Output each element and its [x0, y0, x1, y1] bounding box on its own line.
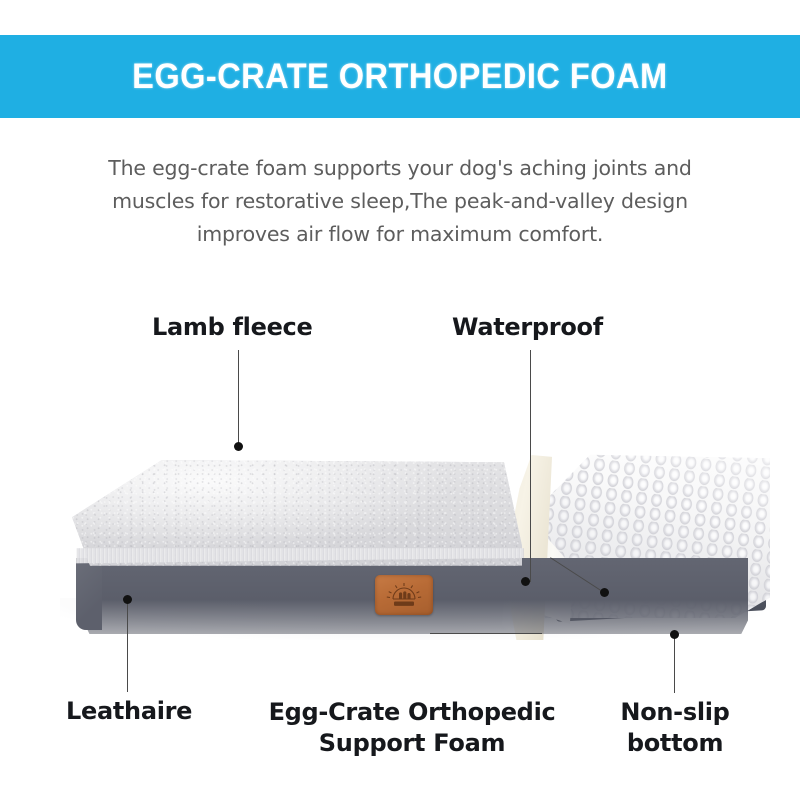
leader-dot-egg-crate-foam	[600, 588, 609, 597]
leathaire-corner	[76, 558, 102, 630]
header-banner: EGG-CRATE ORTHOPEDIC FOAM	[0, 35, 800, 118]
callout-label-leathaire: Leathaire	[66, 697, 192, 725]
leader-dot-waterproof	[521, 577, 530, 586]
leader-line-non-slip-bottom	[674, 638, 675, 693]
product-illustration	[0, 370, 800, 690]
brand-logo-icon	[384, 582, 424, 610]
infographic-page: EGG-CRATE ORTHOPEDIC FOAM The egg-crate …	[0, 0, 800, 800]
leader-line-lamb-fleece	[238, 350, 239, 445]
leader-dot-leathaire	[123, 595, 132, 604]
callout-label-waterproof: Waterproof	[452, 313, 603, 341]
callout-label-lamb-fleece: Lamb fleece	[152, 313, 312, 341]
callout-label-egg-crate-foam: Egg-Crate Orthopedic Support Foam	[252, 697, 572, 759]
leader-line-leathaire	[127, 600, 128, 692]
brand-logo-patch	[375, 575, 433, 615]
callout-label-non-slip-bottom: Non-slip bottom	[600, 697, 750, 759]
leader-line-waterproof	[530, 350, 531, 582]
leader-dot-lamb-fleece	[234, 442, 243, 451]
banner-title: EGG-CRATE ORTHOPEDIC FOAM	[132, 57, 667, 97]
leader-dot-non-slip-bottom	[670, 630, 679, 639]
intro-paragraph: The egg-crate foam supports your dog's a…	[78, 152, 722, 251]
leader-line-egg-crate-foam-2	[430, 633, 542, 634]
